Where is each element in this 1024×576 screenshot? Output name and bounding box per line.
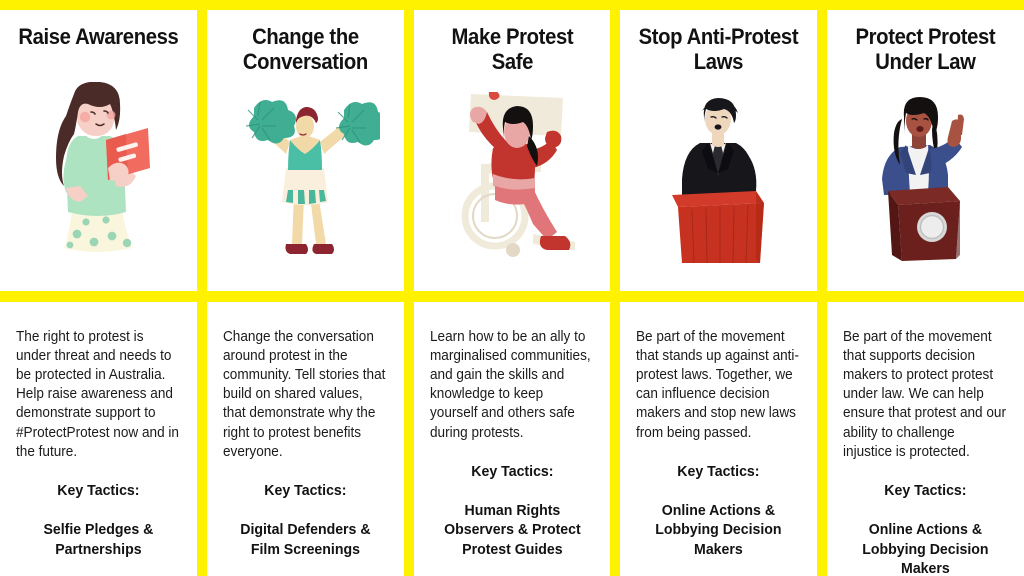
card-body-copy: Learn how to be an ally to marginalised … [430,328,594,443]
card-body-copy: Be part of the movement that stands up a… [636,328,800,443]
card-body-copy: The right to protest is under threat and… [16,328,180,462]
card-top-change-the-conversation: Change the Conversation [207,10,404,291]
key-tactics-value: Human Rights Observers & Protect Protest… [435,501,588,559]
key-tactics-value: Digital Defenders & Film Screenings [229,520,382,559]
woman-speaking-at-dark-podium-icon [833,74,1018,283]
key-tactics-label: Key Tactics: [849,481,1002,500]
card-top-make-protest-safe: Make Protest Safe [414,10,611,291]
card-top-protect-protest-under-law: Protect Protest Under Law [827,10,1024,291]
key-tactics-block: Key Tactics: Online Actions & Lobbying D… [849,462,1002,576]
card-bottom-make-protest-safe: Learn how to be an ally to marginalised … [414,302,611,576]
key-tactics-block: Key Tactics: Digital Defenders & Film Sc… [229,462,382,576]
woman-reading-book-icon [6,49,191,283]
card-bottom-stop-anti-protest-laws: Be part of the movement that stands up a… [620,302,817,576]
card-top-raise-awareness: Raise Awareness [0,10,197,291]
card-title: Make Protest Safe [429,24,595,74]
card-title: Stop Anti-Protest Laws [636,24,802,74]
card-title: Raise Awareness [15,24,181,49]
card-bottom-raise-awareness: The right to protest is under threat and… [0,302,197,576]
cheerleader-with-pompoms-icon [213,74,398,283]
card-title: Change the Conversation [222,24,388,74]
card-title: Protect Protest Under Law [842,24,1008,74]
key-tactics-block: Key Tactics: Selfie Pledges & Partnershi… [22,462,175,576]
key-tactics-label: Key Tactics: [642,462,795,481]
wheelchair-protester-with-placard-icon [420,74,605,283]
key-tactics-value: Online Actions & Lobbying Decision Maker… [642,501,795,559]
key-tactics-label: Key Tactics: [22,481,175,500]
key-tactics-value: Online Actions & Lobbying Decision Maker… [849,520,1002,576]
key-tactics-block: Key Tactics: Online Actions & Lobbying D… [642,443,795,576]
key-tactics-block: Key Tactics: Human Rights Observers & Pr… [435,443,588,576]
man-speaking-at-red-podium-icon [626,74,811,283]
card-bottom-protect-protest-under-law: Be part of the movement that supports de… [827,302,1024,576]
card-body-copy: Be part of the movement that supports de… [843,328,1007,462]
key-tactics-label: Key Tactics: [229,481,382,500]
key-tactics-label: Key Tactics: [435,462,588,481]
key-tactics-value: Selfie Pledges & Partnerships [22,520,175,559]
campaign-pillars-board: Raise Awareness [0,0,1024,576]
card-body-copy: Change the conversation around protest i… [223,328,387,462]
card-top-stop-anti-protest-laws: Stop Anti-Protest Laws [620,10,817,291]
card-bottom-change-the-conversation: Change the conversation around protest i… [207,302,404,576]
